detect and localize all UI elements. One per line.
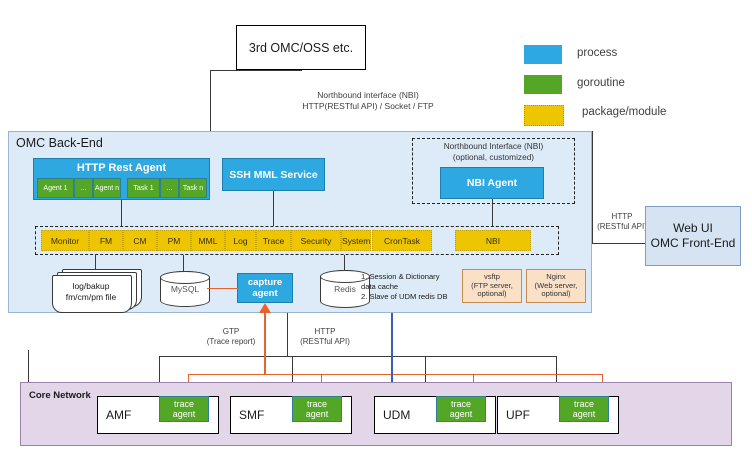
module-nbi: NBI bbox=[455, 230, 531, 251]
core-node-smf-label: SMF bbox=[239, 408, 264, 422]
nginx-label: Nginx (Web server, optional) bbox=[535, 273, 578, 299]
module-cm: CM bbox=[123, 230, 157, 251]
core-node-upf-label: UPF bbox=[506, 408, 530, 422]
goroutine-task-ellipsis-label: ... bbox=[167, 185, 173, 192]
goroutine-task-n: Task n bbox=[179, 178, 207, 198]
module-crontask: CronTask bbox=[372, 230, 432, 251]
http-link-label: HTTP (RESTful API) bbox=[285, 327, 365, 348]
trace-agent-upf: trace agent bbox=[559, 396, 609, 422]
legend-swatch-goroutine bbox=[524, 75, 562, 94]
trace-agent-upf-label: trace agent bbox=[573, 399, 596, 420]
module-mml-label: MML bbox=[199, 236, 218, 246]
module-log-label: Log bbox=[233, 236, 247, 246]
legend-swatch-package-module bbox=[524, 105, 564, 126]
third-party-omc-oss-label: 3rd OMC/OSS etc. bbox=[249, 41, 353, 55]
module-log: Log bbox=[225, 230, 256, 251]
module-mml: MML bbox=[191, 230, 225, 251]
gtp-link-label: GTP (Trace report) bbox=[191, 327, 271, 348]
file-store-stack: log/bakup fm/cm/pm file bbox=[52, 269, 144, 311]
module-system-label: System bbox=[342, 236, 370, 246]
nbi-group-caption: Northbound Interface (NBI) (optional, cu… bbox=[414, 141, 573, 163]
module-security-label: Security bbox=[301, 236, 332, 246]
legend-label-package-module: package/module bbox=[582, 106, 666, 118]
module-nbi-label: NBI bbox=[486, 236, 500, 246]
legend-label-process: process bbox=[577, 47, 617, 59]
module-system: System bbox=[341, 230, 371, 251]
legend-label-goroutine: goroutine bbox=[577, 77, 625, 89]
http-rest-agent-title: HTTP Rest Agent bbox=[77, 162, 166, 174]
goroutine-task-1-label: Task 1 bbox=[133, 185, 153, 192]
ssh-mml-service-label: SSH MML Service bbox=[229, 169, 318, 181]
capture-agent-label: capture agent bbox=[248, 277, 282, 300]
vsftp-box: vsftp (FTP server, optional) bbox=[462, 269, 522, 303]
trace-agent-amf: trace agent bbox=[159, 396, 209, 422]
module-fm: FM bbox=[89, 230, 123, 251]
nbi-agent-box: NBI Agent bbox=[440, 167, 544, 199]
capture-agent-box: capture agent bbox=[237, 273, 293, 303]
connector-modules-to-mysql bbox=[183, 255, 184, 271]
module-cm-label: CM bbox=[133, 236, 146, 246]
connector-mysql-to-capture-agent bbox=[207, 288, 238, 289]
vsftp-label: vsftp (FTP server, optional) bbox=[471, 273, 513, 299]
goroutine-agent-n: Agent n bbox=[93, 178, 121, 198]
module-security: Security bbox=[291, 230, 341, 251]
module-list: Monitor FM CM PM MML Log Trace Security … bbox=[41, 230, 335, 251]
module-pm: PM bbox=[157, 230, 191, 251]
module-trace-label: Trace bbox=[263, 236, 284, 246]
module-monitor-label: Monitor bbox=[51, 236, 79, 246]
goroutine-task-1: Task 1 bbox=[127, 178, 160, 198]
goroutine-agent-ellipsis: ... bbox=[74, 178, 93, 198]
gtp-bus-horizontal-right bbox=[473, 374, 603, 375]
gtp-bus-horizontal bbox=[188, 374, 473, 375]
trace-agent-udm-label: trace agent bbox=[450, 399, 473, 420]
nginx-box: Nginx (Web server, optional) bbox=[526, 269, 586, 303]
core-network-title: Core Network bbox=[29, 390, 91, 401]
web-ui-frontend-label: Web UI OMC Front-End bbox=[651, 221, 736, 251]
frontend-link-label: HTTP (RESTful API) bbox=[591, 212, 653, 233]
goroutine-task-n-label: Task n bbox=[183, 185, 203, 192]
core-node-amf-label: AMF bbox=[106, 408, 131, 422]
module-trace: Trace bbox=[256, 230, 291, 251]
core-node-udm-label: UDM bbox=[383, 408, 410, 422]
trace-agent-smf-label: trace agent bbox=[306, 399, 329, 420]
gtp-arrowhead-capture-agent bbox=[259, 303, 271, 313]
task-goroutine-group: Task 1 ... Task n bbox=[127, 178, 207, 196]
nbi-link-label: Northbound interface (NBI) HTTP(RESTful … bbox=[228, 90, 508, 112]
trace-agent-smf: trace agent bbox=[292, 396, 342, 422]
redis-label: Redis bbox=[334, 284, 356, 294]
trace-agent-amf-label: trace agent bbox=[173, 399, 196, 420]
connector-ssh-mml-to-modules bbox=[273, 191, 274, 226]
file-store-label: log/bakup fm/cm/pm file bbox=[52, 275, 130, 309]
architecture-diagram: 3rd OMC/OSS etc. Northbound interface (N… bbox=[0, 0, 752, 466]
connector-oss-stub bbox=[210, 70, 302, 71]
connector-oss-to-omc bbox=[210, 70, 211, 131]
goroutine-task-ellipsis: ... bbox=[160, 178, 179, 198]
module-crontask-label: CronTask bbox=[384, 236, 420, 246]
trace-agent-udm: trace agent bbox=[436, 396, 486, 422]
mysql-label: MySQL bbox=[171, 284, 199, 294]
module-fm-label: FM bbox=[100, 236, 112, 246]
http-bus-horizontal-right bbox=[412, 356, 557, 357]
connector-omc-to-frontend-horizontal bbox=[592, 243, 645, 244]
agent-goroutine-group: Agent 1 ... Agent n bbox=[37, 178, 121, 196]
mysql-database: MySQL bbox=[160, 271, 210, 307]
goroutine-agent-1: Agent 1 bbox=[37, 178, 74, 198]
nbi-agent-label: NBI Agent bbox=[467, 177, 517, 189]
module-pm-label: PM bbox=[168, 236, 181, 246]
connector-http-rest-agent-to-modules bbox=[121, 200, 122, 226]
web-ui-frontend-box: Web UI OMC Front-End bbox=[645, 206, 741, 266]
third-party-omc-oss-box: 3rd OMC/OSS etc. bbox=[236, 25, 366, 70]
goroutine-agent-ellipsis-label: ... bbox=[81, 185, 87, 192]
goroutine-agent-1-label: Agent 1 bbox=[43, 185, 67, 192]
http-riser-from-backend bbox=[287, 313, 288, 356]
module-monitor: Monitor bbox=[41, 230, 89, 251]
gtp-riser-to-capture-agent bbox=[264, 312, 266, 374]
http-bus-horizontal bbox=[159, 356, 412, 357]
omc-backend-title: OMC Back-End bbox=[16, 136, 103, 150]
goroutine-agent-n-label: Agent n bbox=[95, 185, 119, 192]
legend-swatch-process bbox=[524, 45, 562, 64]
ssh-mml-service-box: SSH MML Service bbox=[222, 158, 325, 191]
connector-modules-to-redis bbox=[344, 255, 345, 270]
connector-nbi-agent-to-modules bbox=[492, 199, 493, 226]
